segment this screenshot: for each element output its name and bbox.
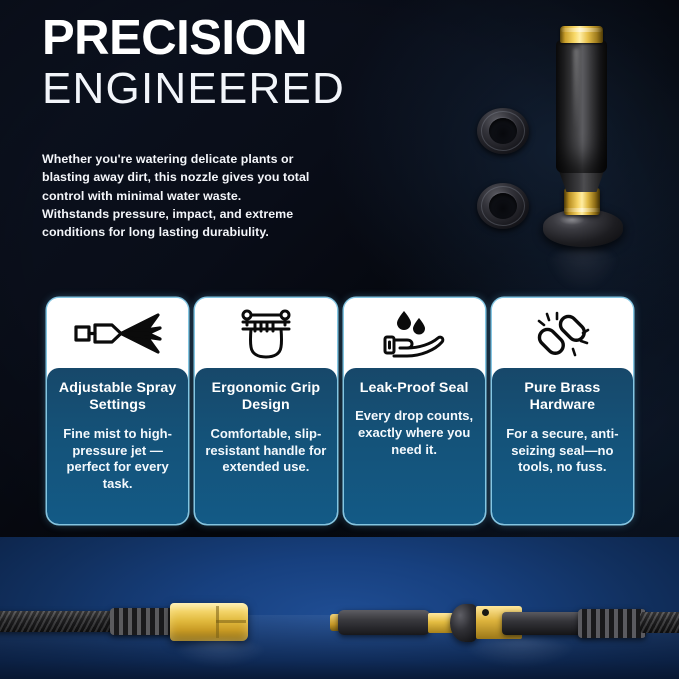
nozzle-brass-collar [560, 26, 603, 43]
nozzle-reflection [546, 248, 620, 292]
card-title: Leak-Proof Seal [351, 380, 478, 397]
headline-primary: PRECISION [42, 14, 345, 63]
washer-hole [489, 118, 517, 144]
hand-grip-icon [195, 298, 336, 370]
card-body: Pure Brass Hardware For a secure, anti-s… [492, 368, 633, 524]
product-infographic: PRECISION ENGINEERED Whether you're wate… [0, 0, 679, 679]
feature-cards: Adjustable Spray Settings Fine mist to h… [47, 298, 633, 524]
card-title: Adjustable Spray Settings [54, 380, 181, 415]
hose-strain-relief-spring [110, 608, 176, 635]
braided-hose-with-brass-coupler [0, 607, 292, 637]
rubber-washer-ring-2 [477, 183, 529, 229]
feature-card-pure-brass-hardware[interactable]: Pure Brass Hardware For a secure, anti-s… [492, 298, 633, 524]
card-title: Ergonomic Grip Design [202, 380, 329, 415]
right-hose-reflection [460, 639, 580, 667]
card-description: Fine mist to high-pressure jet — perfect… [54, 426, 181, 494]
nozzle-brass-ring [564, 188, 600, 215]
card-body: Ergonomic Grip Design Comfortable, slip-… [195, 368, 336, 524]
card-description: Every drop counts, exactly where you nee… [351, 408, 478, 459]
feature-card-ergonomic-grip[interactable]: Ergonomic Grip Design Comfortable, slip-… [195, 298, 336, 524]
nozzle-barrel [556, 40, 607, 173]
feature-card-adjustable-spray[interactable]: Adjustable Spray Settings Fine mist to h… [47, 298, 188, 524]
card-description: Comfortable, slip-resistant handle for e… [202, 426, 329, 477]
card-title: Pure Brass Hardware [499, 380, 626, 415]
headline-secondary: ENGINEERED [42, 65, 345, 113]
hose-connector-with-brass-lever-valve [330, 603, 679, 643]
hero-section: PRECISION ENGINEERED Whether you're wate… [0, 0, 679, 537]
water-drop-hand-icon [344, 298, 485, 370]
hero-description: Whether you're watering delicate plants … [42, 150, 310, 242]
spray-nozzle-render [540, 26, 632, 241]
card-body: Adjustable Spray Settings Fine mist to h… [47, 368, 188, 524]
product-image [455, 8, 679, 283]
feature-card-leak-proof-seal[interactable]: Leak-Proof Seal Every drop counts, exact… [344, 298, 485, 524]
left-hose-reflection [170, 641, 270, 667]
braided-hose-end [640, 612, 679, 633]
headline-block: PRECISION ENGINEERED [42, 14, 345, 113]
chain-link-icon [492, 298, 633, 370]
card-body: Leak-Proof Seal Every drop counts, exact… [344, 368, 485, 524]
card-description: For a secure, anti-seizing seal—no tools… [499, 426, 626, 477]
spray-nozzle-icon [47, 298, 188, 370]
connector-rubber-handle [338, 610, 430, 635]
bottom-product-panel [0, 537, 679, 679]
brass-coupler [170, 603, 248, 641]
washer-hole [489, 193, 517, 219]
connector-strain-relief-spring [578, 609, 646, 638]
rubber-washer-ring-1 [477, 108, 529, 154]
